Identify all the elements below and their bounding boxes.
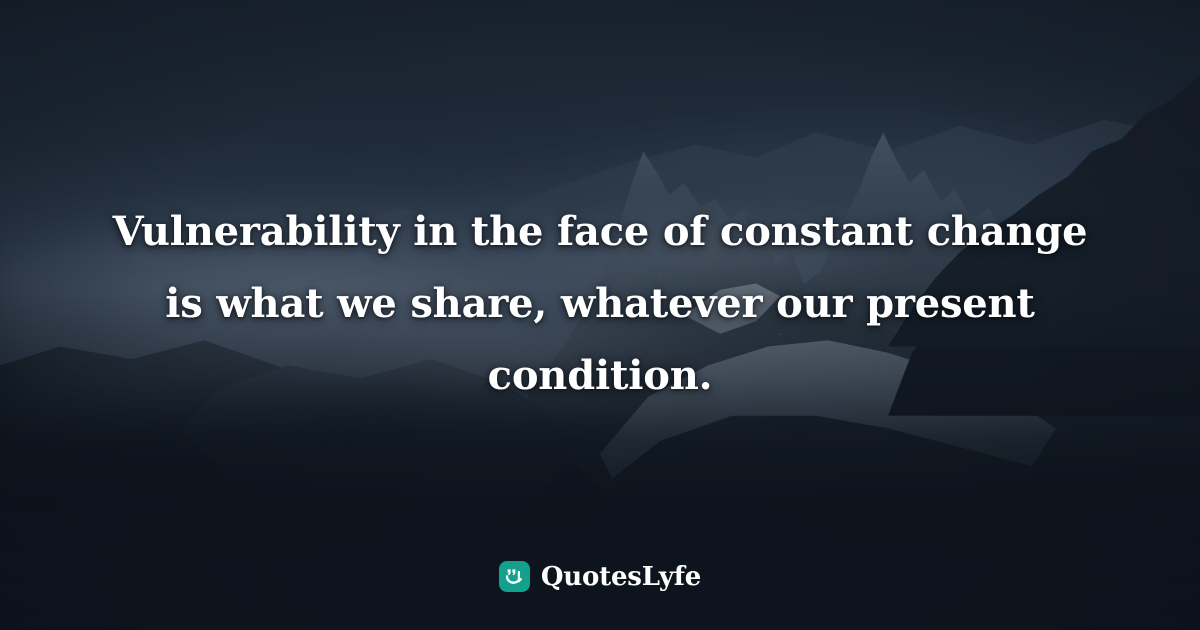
brand-name: QuotesLyfe	[541, 564, 701, 590]
brand-footer[interactable]: QuotesLyfe	[0, 561, 1200, 592]
quote-line-3: condition.	[96, 340, 1104, 412]
quote-card: Vulnerability in the face of constant ch…	[0, 0, 1200, 630]
quote-block: Vulnerability in the face of constant ch…	[0, 196, 1200, 412]
quote-line-2: is what we share, whatever our present	[96, 268, 1104, 340]
quote-line-1: Vulnerability in the face of constant ch…	[96, 196, 1104, 268]
quote-smiley-icon	[499, 561, 530, 592]
